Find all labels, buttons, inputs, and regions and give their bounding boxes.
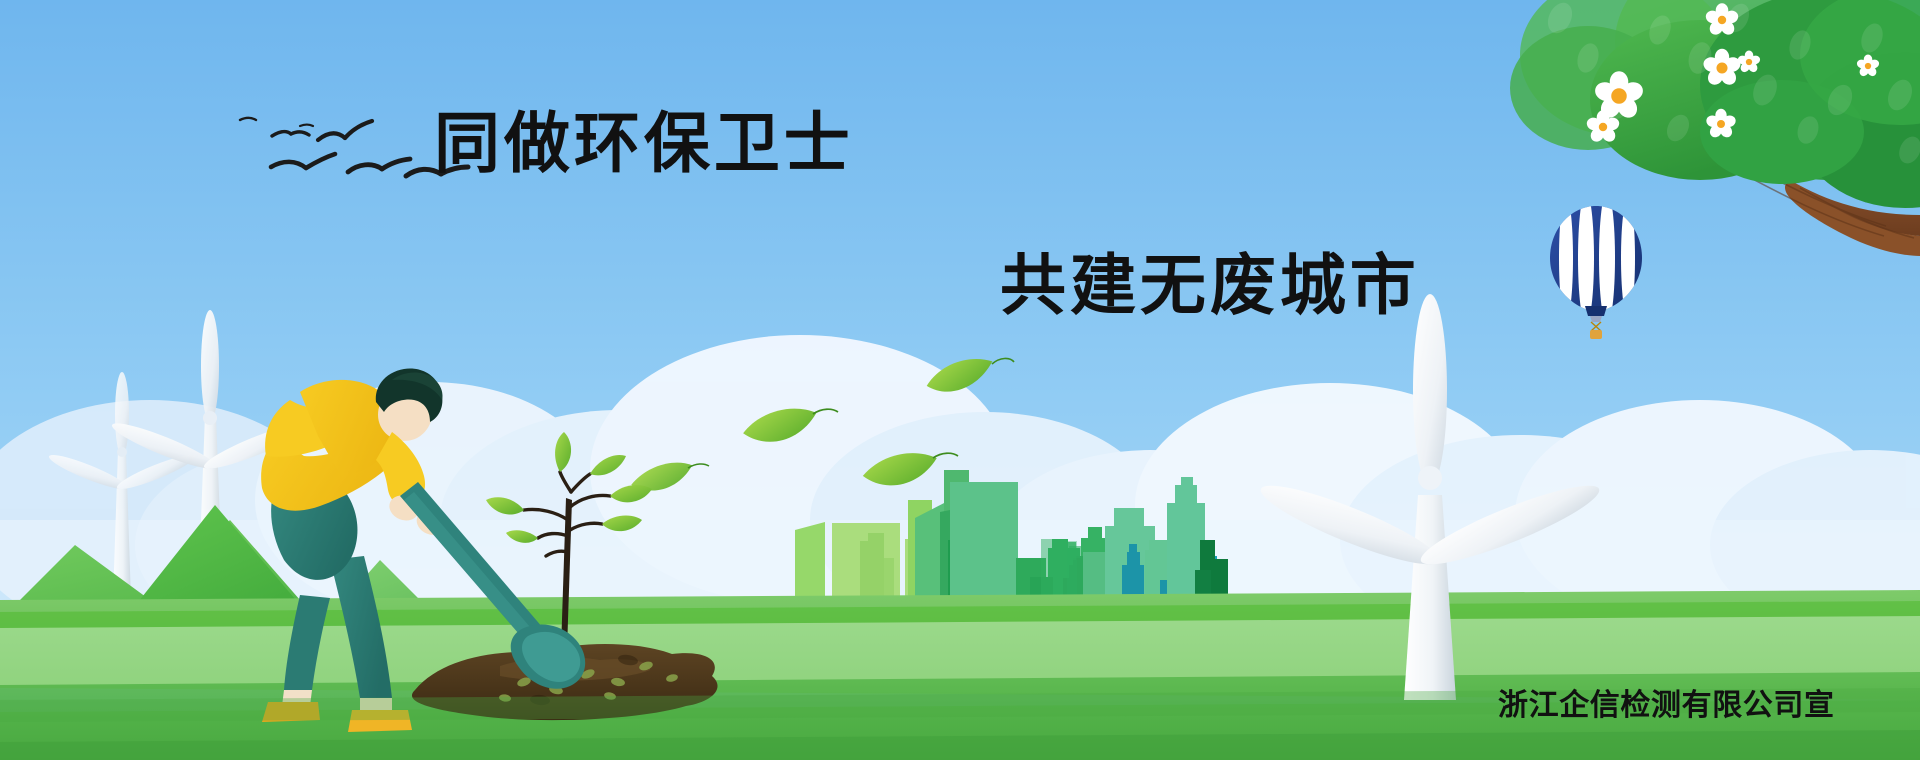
- headline-line-2: 共建无废城市: [1000, 252, 1420, 318]
- scene-illustration: [0, 0, 1920, 760]
- company-credit-text: 浙江企信检测有限公司宣: [1498, 691, 1835, 721]
- eco-banner: 同做环保卫士 共建无废城市 浙江企信检测有限公司宣: [0, 0, 1920, 760]
- headline-line-1: 同做环保卫士: [434, 110, 854, 176]
